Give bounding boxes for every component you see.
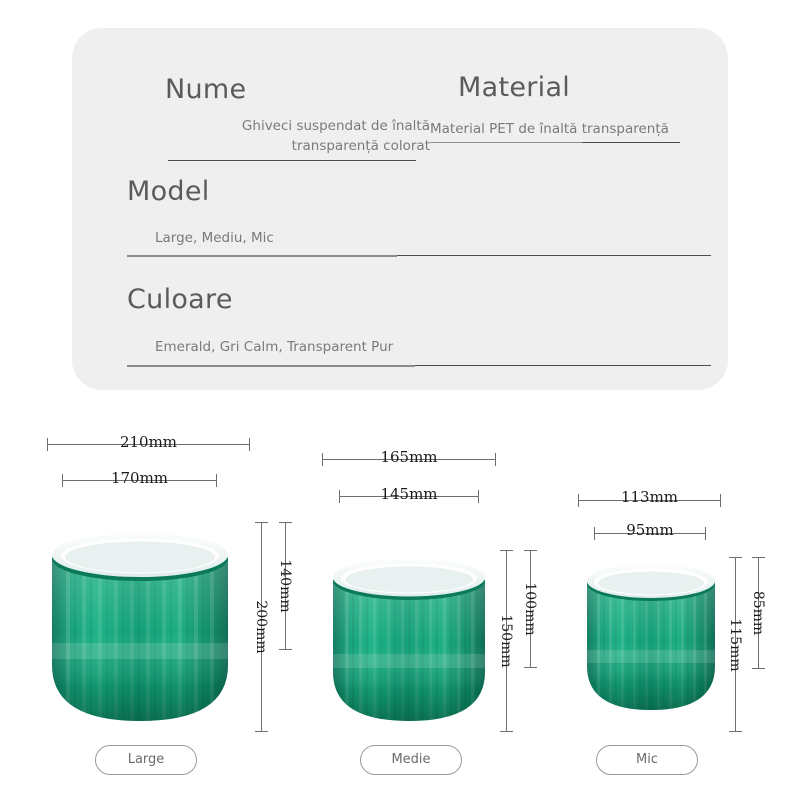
spec-field-material: Material Material PET de înaltă transpar… <box>430 72 698 143</box>
dim-medie-outer-height: 150mm <box>493 550 519 732</box>
product-large: 210mm 170mm <box>0 400 300 800</box>
size-pill-medie[interactable]: Medie <box>360 745 462 775</box>
dim-mic-outer-height: 115mm <box>723 557 747 732</box>
dim-mic-inner-width: 95mm <box>594 520 706 546</box>
size-pill-mic[interactable]: Mic <box>596 745 698 775</box>
dim-medie-inner-height: 100mm <box>517 550 543 668</box>
dim-mic-outer-width-label: 113mm <box>578 488 721 506</box>
dim-medie-outer-width-label: 165mm <box>322 448 496 466</box>
dim-medie-outer-width: 165mm <box>322 445 496 473</box>
dim-mic-outer-height-label: 115mm <box>727 618 743 671</box>
spec-value-model: Large, Mediu, Mic <box>155 230 715 246</box>
spec-label-culoare: Culoare <box>127 284 715 315</box>
dim-medie-inner-width: 145mm <box>339 482 479 510</box>
dim-medie-inner-height-label: 100mm <box>522 582 538 635</box>
size-pill-large[interactable]: Large <box>95 745 197 775</box>
pot-graphic-medie <box>323 552 495 734</box>
dim-large-inner-width-label: 170mm <box>62 469 217 487</box>
dim-medie-inner-width-label: 145mm <box>339 485 479 503</box>
product-mic: 113mm 95mm <box>570 400 800 800</box>
dim-large-inner-width: 170mm <box>62 466 217 494</box>
dim-large-outer-width-label: 210mm <box>47 433 250 451</box>
pot-graphic-large <box>40 525 240 735</box>
dim-medie-outer-height-label: 150mm <box>498 614 514 667</box>
spec-underline-material <box>430 142 680 143</box>
pot-graphic-mic <box>578 558 724 733</box>
spec-underline-culoare <box>127 365 711 366</box>
dim-large-inner-height-label: 140mm <box>277 559 293 612</box>
spec-field-model: Model Large, Mediu, Mic <box>127 176 715 256</box>
product-medie: 165mm 145mm <box>300 400 570 800</box>
spec-field-nume: Nume Ghiveci suspendat de înaltă transpa… <box>158 74 458 161</box>
dim-mic-inner-height: 85mm <box>746 557 770 669</box>
spec-label-nume: Nume <box>165 74 458 105</box>
product-size-comparison: 210mm 170mm <box>0 400 800 800</box>
spec-label-model: Model <box>127 176 715 207</box>
spec-value-nume: Ghiveci suspendat de înaltă transparență… <box>178 117 430 156</box>
dim-mic-inner-width-label: 95mm <box>594 521 706 539</box>
dim-large-outer-height-label: 200mm <box>253 600 269 653</box>
dim-mic-outer-width: 113mm <box>578 487 721 513</box>
spec-label-material: Material <box>458 72 698 103</box>
spec-card: Nume Ghiveci suspendat de înaltă transpa… <box>72 28 728 390</box>
spec-value-material: Material PET de înaltă transparență <box>430 121 698 137</box>
spec-underline-model <box>127 255 711 256</box>
dim-large-outer-height: 200mm <box>248 522 274 732</box>
spec-underline-nume <box>168 160 416 161</box>
dim-mic-inner-height-label: 85mm <box>750 591 766 635</box>
dim-large-outer-width: 210mm <box>47 430 250 458</box>
spec-field-culoare: Culoare Emerald, Gri Calm, Transparent P… <box>127 284 715 366</box>
dim-large-inner-height: 140mm <box>272 522 298 650</box>
spec-value-culoare: Emerald, Gri Calm, Transparent Pur <box>155 339 715 355</box>
